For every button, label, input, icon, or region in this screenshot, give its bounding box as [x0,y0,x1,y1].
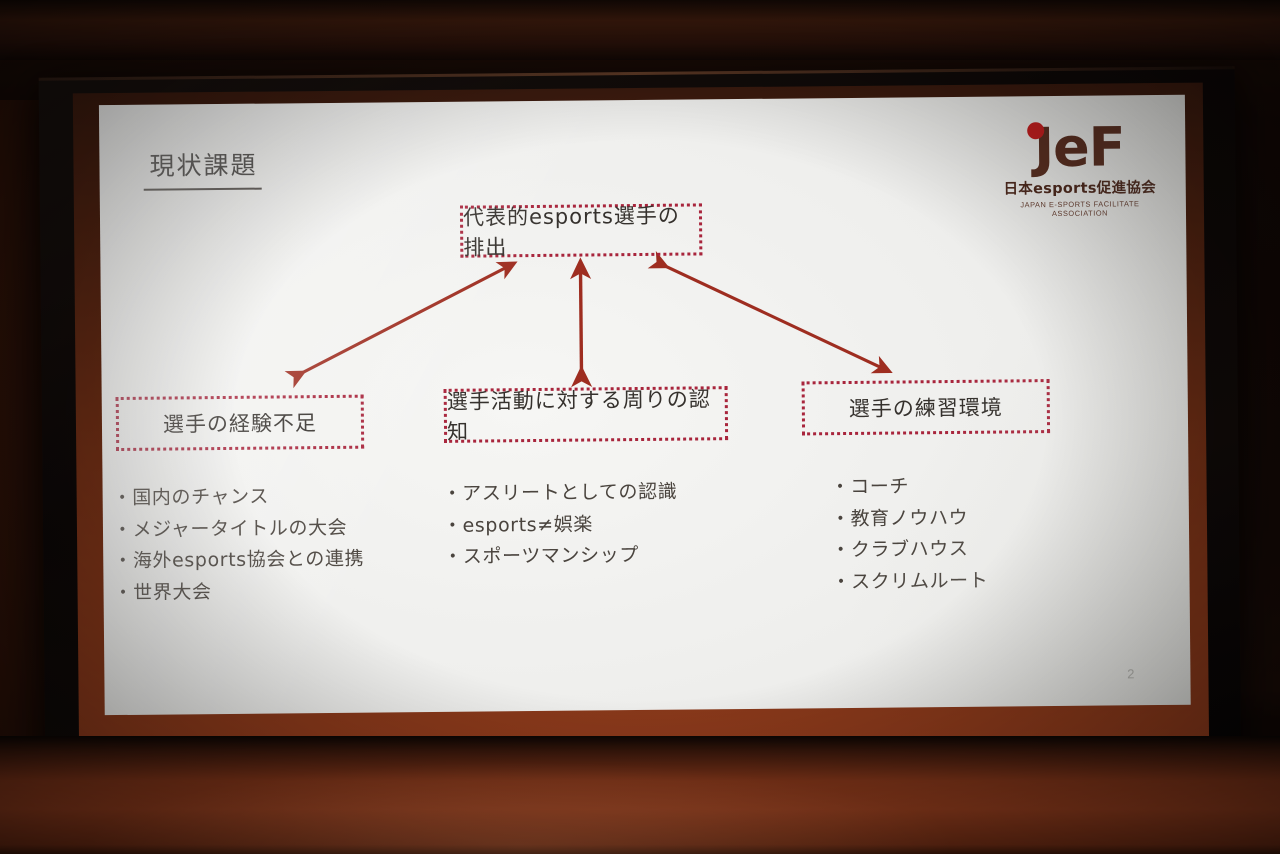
screen-inner-frame: 現状課題 JeF 日本esports促進協会 JAPAN E-SPORTS FA… [73,83,1209,756]
node-right-issue[interactable]: 選手の練習環境 [802,379,1051,435]
arrow-right-diagonal [660,262,883,371]
arrow-left-diagonal [296,266,509,375]
node-left-label: 選手の経験不足 [163,407,317,438]
logo-english-name: JAPAN E-SPORTS FACILITATE ASSOCIATION [992,199,1168,219]
list-item: ・スクリムルート [831,565,988,598]
list-item: ・教育ノウハウ [831,502,988,535]
node-top-label: 代表的esports選手の排出 [463,199,700,261]
logo-wordmark: JeF [991,119,1168,177]
logo-japanese-name: 日本esports促進協会 [992,176,1168,199]
node-right-label: 選手の練習環境 [849,392,1003,423]
jef-logo: JeF 日本esports促進協会 JAPAN E-SPORTS FACILIT… [991,119,1168,219]
node-middle-issue[interactable]: 選手活動に対する周りの認知 [444,386,729,443]
list-item: ・コーチ [830,471,987,504]
list-item: ・メジャータイトルの大会 [113,512,364,546]
arrow-center-vertical [580,269,581,377]
room-floor-sheen [0,736,1280,854]
list-item: ・海外esports協会との連携 [113,544,364,578]
bullet-list-left: ・国内のチャンス ・メジャータイトルの大会 ・海外esports協会との連携 ・… [113,481,365,610]
photo-background: 現状課題 JeF 日本esports促進協会 JAPAN E-SPORTS FA… [0,0,1280,854]
node-left-issue[interactable]: 選手の経験不足 [116,395,365,451]
list-item: ・クラブハウス [831,534,988,567]
list-item: ・esports≠娯楽 [443,508,678,542]
list-item: ・スポーツマンシップ [443,540,678,574]
slide-canvas: 現状課題 JeF 日本esports促進協会 JAPAN E-SPORTS FA… [99,95,1191,715]
list-item: ・国内のチャンス [113,481,364,515]
room-ceiling-band [0,0,1280,60]
logo-red-dot-icon [1027,122,1044,139]
node-top-goal[interactable]: 代表的esports選手の排出 [460,203,702,257]
bullet-list-right: ・コーチ ・教育ノウハウ ・クラブハウス ・スクリムルート [830,471,988,599]
list-item: ・アスリートとしての認識 [443,477,678,511]
bezel-highlight [39,66,1235,80]
title-underline [144,188,262,191]
node-middle-label: 選手活動に対する周りの認知 [447,383,726,446]
list-item: ・世界大会 [113,575,364,609]
slide-title: 現状課題 [149,146,257,183]
page-number: 2 [1127,666,1134,681]
bullet-list-middle: ・アスリートとしての認識 ・esports≠娯楽 ・スポーツマンシップ [443,477,679,574]
presentation-display: 現状課題 JeF 日本esports促進協会 JAPAN E-SPORTS FA… [39,66,1242,783]
